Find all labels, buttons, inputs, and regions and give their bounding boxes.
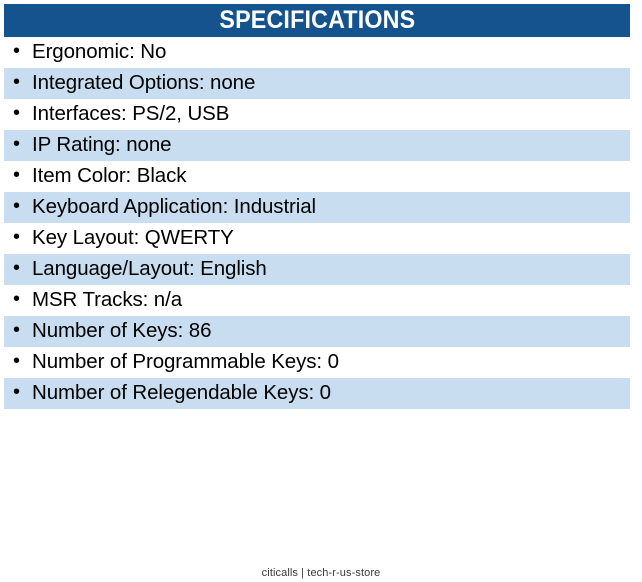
spec-row-text: Keyboard Application: Industrial: [32, 197, 630, 218]
page-title: SPECIFICATIONS: [219, 8, 415, 33]
specifications-header-banner: SPECIFICATIONS: [4, 4, 630, 37]
list-item: • Language/Layout: English: [4, 254, 630, 285]
bullet-icon: •: [13, 196, 32, 219]
spec-row-text: Key Layout: QWERTY: [32, 228, 630, 249]
list-item: • Integrated Options: none: [4, 68, 630, 99]
list-item: • Item Color: Black: [4, 161, 630, 192]
list-item: • Number of Programmable Keys: 0: [4, 347, 630, 378]
spec-row-text: Number of Relegendable Keys: 0: [32, 383, 630, 404]
spec-row-text: Number of Keys: 86: [32, 321, 630, 342]
list-item: • Keyboard Application: Industrial: [4, 192, 630, 223]
spec-row-text: Interfaces: PS/2, USB: [32, 104, 630, 125]
spec-row-text: IP Rating: none: [32, 135, 630, 156]
bullet-icon: •: [13, 258, 32, 281]
bullet-icon: •: [13, 351, 32, 374]
bullet-icon: •: [13, 41, 32, 64]
list-item: • Number of Relegendable Keys: 0: [4, 378, 630, 409]
footer: citicalls | tech-r-us-store: [0, 563, 642, 581]
bullet-icon: •: [13, 165, 32, 188]
bullet-icon: •: [13, 134, 32, 157]
specifications-list: • Ergonomic: No • Integrated Options: no…: [4, 37, 630, 409]
list-item: • Interfaces: PS/2, USB: [4, 99, 630, 130]
list-item: • Number of Keys: 86: [4, 316, 630, 347]
spec-row-text: MSR Tracks: n/a: [32, 290, 630, 311]
list-item: • Key Layout: QWERTY: [4, 223, 630, 254]
footer-attribution: citicalls | tech-r-us-store: [262, 566, 381, 580]
spec-row-text: Language/Layout: English: [32, 259, 630, 280]
list-item: • MSR Tracks: n/a: [4, 285, 630, 316]
spec-sheet: SPECIFICATIONS • Ergonomic: No • Integra…: [0, 0, 642, 582]
bullet-icon: •: [13, 227, 32, 250]
bullet-icon: •: [13, 103, 32, 126]
bullet-icon: •: [13, 320, 32, 343]
bullet-icon: •: [13, 72, 32, 95]
spec-row-text: Integrated Options: none: [32, 73, 630, 94]
bullet-icon: •: [13, 289, 32, 312]
spec-row-text: Number of Programmable Keys: 0: [32, 352, 630, 373]
spec-row-text: Item Color: Black: [32, 166, 630, 187]
list-item: • IP Rating: none: [4, 130, 630, 161]
spec-row-text: Ergonomic: No: [32, 42, 630, 63]
list-item: • Ergonomic: No: [4, 37, 630, 68]
bullet-icon: •: [13, 382, 32, 405]
